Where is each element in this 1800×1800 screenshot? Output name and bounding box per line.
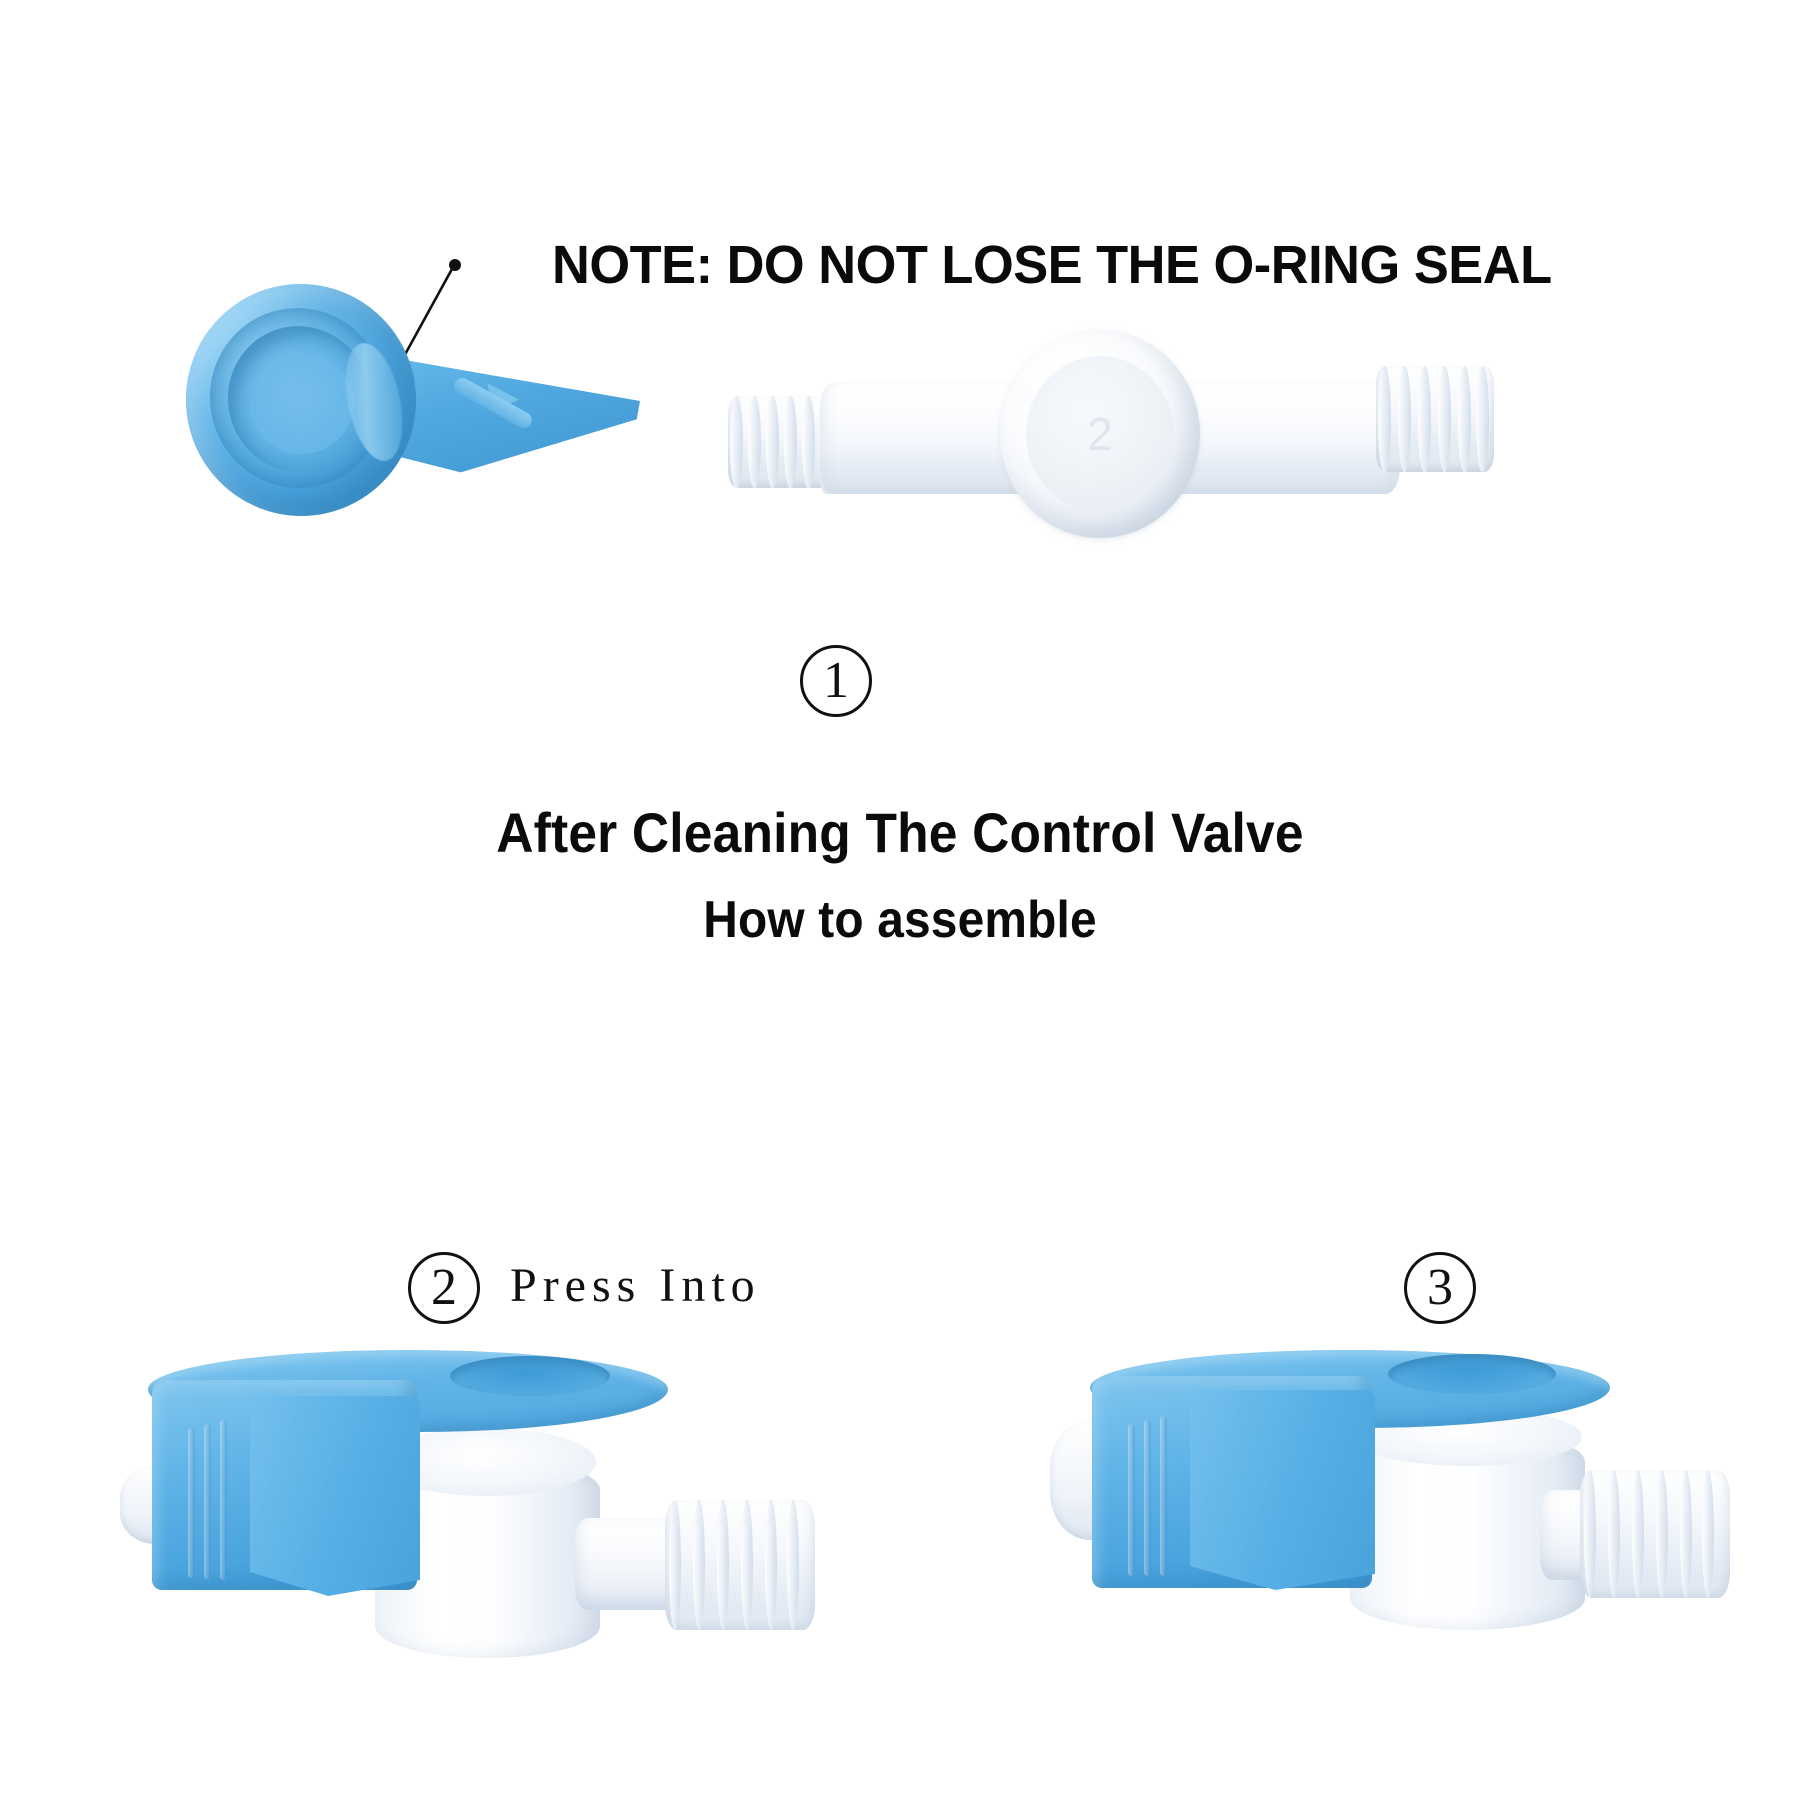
blue-cap-rib-2-c [220,1420,227,1580]
valve-thread-tip-3 [1580,1470,1730,1598]
step-number-1: 1 [800,645,872,717]
blue-cap-rib-2-a [188,1428,195,1578]
valve-control-disc: 2 [1000,330,1200,538]
blue-cap-rib-3-b [1144,1420,1151,1576]
press-into-label: Press Into [510,1258,761,1313]
valve-thread-right [1376,366,1494,472]
figure-assembly-step-3 [920,1350,1640,1730]
valve-disc-marking: 2 [1087,407,1113,461]
blue-cap-clip-face-2 [250,1396,420,1596]
instruction-sheet: NOTE: DO NOT LOSE THE O-RING SEAL [0,0,1800,1800]
valve-disc-inner: 2 [1026,356,1174,512]
blue-cap-hole-3 [1388,1354,1556,1394]
heading-how-to-assemble: How to assemble [72,890,1728,950]
heading-after-cleaning: After Cleaning The Control Valve [72,800,1728,865]
blue-cap-rib-2-b [204,1424,211,1579]
blue-cap-clip-face-3 [1190,1390,1375,1590]
blue-cap-rib-3-c [1160,1416,1167,1576]
step-number-3: 3 [1404,1252,1476,1324]
figure-assembly-step-2 [120,1350,840,1730]
blue-cap-rib-3-a [1128,1424,1135,1576]
note-warning-text: NOTE: DO NOT LOSE THE O-RING SEAL [552,234,1552,296]
figure-white-control-valve: 2 [700,330,1500,560]
figure-blue-cap [180,250,640,550]
blue-cap-hole-2 [450,1356,610,1396]
step-number-2: 2 [408,1252,480,1324]
valve-thread-tip-2 [665,1500,815,1630]
